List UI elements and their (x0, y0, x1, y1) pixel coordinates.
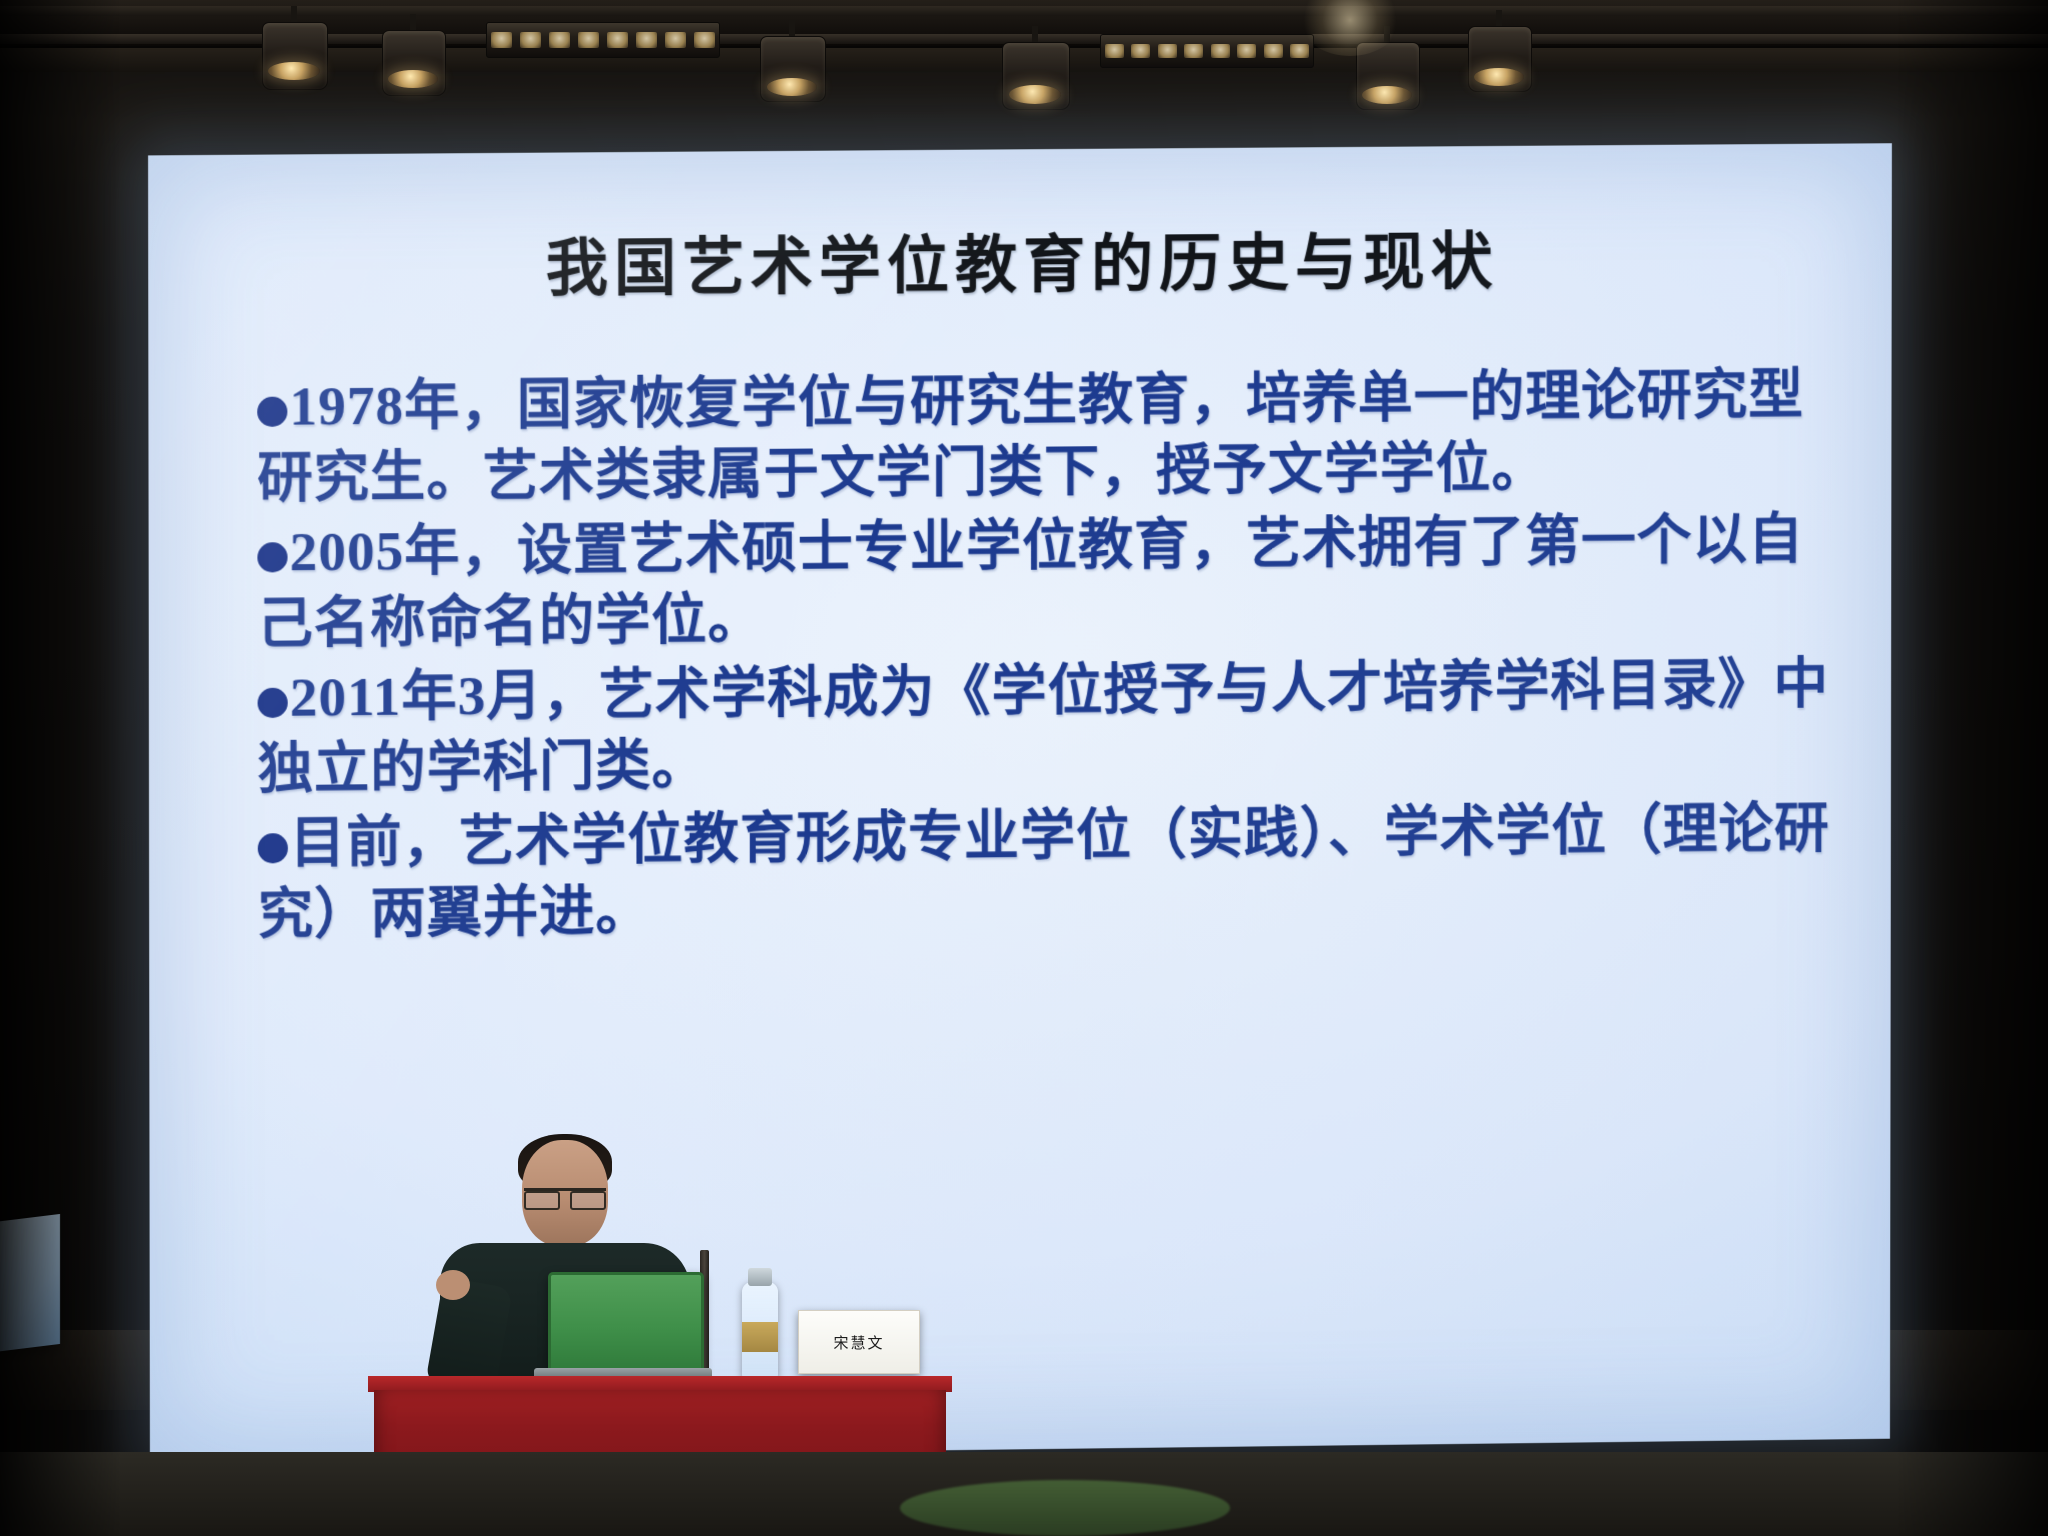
light-lens (767, 78, 817, 96)
par-can-light-5 (1356, 26, 1418, 120)
presentation-slide: 我国艺术学位教育的历史与现状 1978年，国家恢复学位与研究生教育，培养单一的理… (148, 143, 1892, 1460)
bottle-cap (748, 1268, 772, 1286)
speaker-glasses (524, 1188, 606, 1207)
list-item: 2011年3月，艺术学科成为《学位授予与人才培养学科目录》中独立的学科门类。 (258, 647, 1840, 805)
laptop-screen (548, 1272, 704, 1376)
light-lens (1009, 85, 1061, 104)
side-banner (0, 1214, 60, 1352)
name-card: 宋慧文 (798, 1310, 920, 1374)
light-lens (1474, 68, 1524, 86)
led-cell (636, 32, 657, 48)
led-cell (1105, 44, 1124, 59)
led-cell (694, 32, 715, 48)
led-cell (578, 32, 599, 48)
bullet-dot-icon (258, 687, 288, 717)
bullet-text: 目前，艺术学位教育形成专业学位（实践）、学术学位（理论研究）两翼并进。 (258, 797, 1830, 945)
slide-title: 我国艺术学位教育的历史与现状 (148, 208, 1892, 311)
par-can-light-6 (1468, 10, 1530, 102)
led-cell (665, 32, 686, 48)
bullet-dot-icon (257, 542, 287, 572)
bullet-dot-icon (258, 833, 288, 863)
water-bottle (742, 1282, 778, 1380)
speaker-hand (436, 1270, 470, 1300)
bullet-text: 2005年，设置艺术硕士专业学位教育，艺术拥有了第一个以自己名称命名的学位。 (257, 508, 1803, 654)
led-cell (1290, 44, 1309, 59)
par-can-light-2 (382, 14, 444, 106)
led-cell (1158, 44, 1177, 59)
floor-green-reflection (900, 1480, 1230, 1536)
list-item: 2005年，设置艺术硕士专业学位教育，艺术拥有了第一个以自己名称命名的学位。 (257, 502, 1839, 659)
led-cell (1264, 44, 1283, 59)
bullet-dot-icon (257, 396, 287, 426)
led-cell (1131, 44, 1150, 59)
name-card-text: 宋慧文 (833, 1332, 884, 1353)
bullet-text: 2011年3月，艺术学科成为《学位授予与人才培养学科目录》中独立的学科门类。 (258, 652, 1829, 799)
list-item: 1978年，国家恢复学位与研究生教育，培养单一的理论研究型研究生。艺术类隶属于文… (257, 358, 1839, 514)
led-cell (520, 32, 541, 48)
lecture-hall-photo: 我国艺术学位教育的历史与现状 1978年，国家恢复学位与研究生教育，培养单一的理… (0, 0, 2048, 1536)
light-lens (388, 70, 438, 88)
led-cell (1237, 44, 1256, 59)
list-item: 目前，艺术学位教育形成专业学位（实践）、学术学位（理论研究）两翼并进。 (258, 792, 1839, 951)
led-cell (1184, 44, 1203, 59)
par-can-light-3 (760, 20, 824, 112)
bullet-text: 1978年，国家恢复学位与研究生教育，培养单一的理论研究型研究生。艺术类隶属于文… (257, 363, 1804, 508)
par-can-light-1 (262, 6, 326, 98)
led-cell (491, 32, 512, 48)
light-lens (268, 62, 320, 80)
slide-content: 我国艺术学位教育的历史与现状 1978年，国家恢复学位与研究生教育，培养单一的理… (148, 143, 1892, 1460)
slide-bullet-list: 1978年，国家恢复学位与研究生教育，培养单一的理论研究型研究生。艺术类隶属于文… (257, 358, 1839, 952)
bottle-label (742, 1322, 778, 1352)
projection-screen: 我国艺术学位教育的历史与现状 1978年，国家恢复学位与研究生教育，培养单一的理… (148, 143, 1892, 1460)
led-bar-light-1 (486, 22, 720, 58)
light-lens (1362, 86, 1412, 104)
led-cell (549, 32, 570, 48)
led-cell (607, 32, 628, 48)
led-bar-light-2 (1100, 34, 1314, 68)
par-can-light-4 (1002, 26, 1068, 120)
led-cell (1211, 44, 1230, 59)
